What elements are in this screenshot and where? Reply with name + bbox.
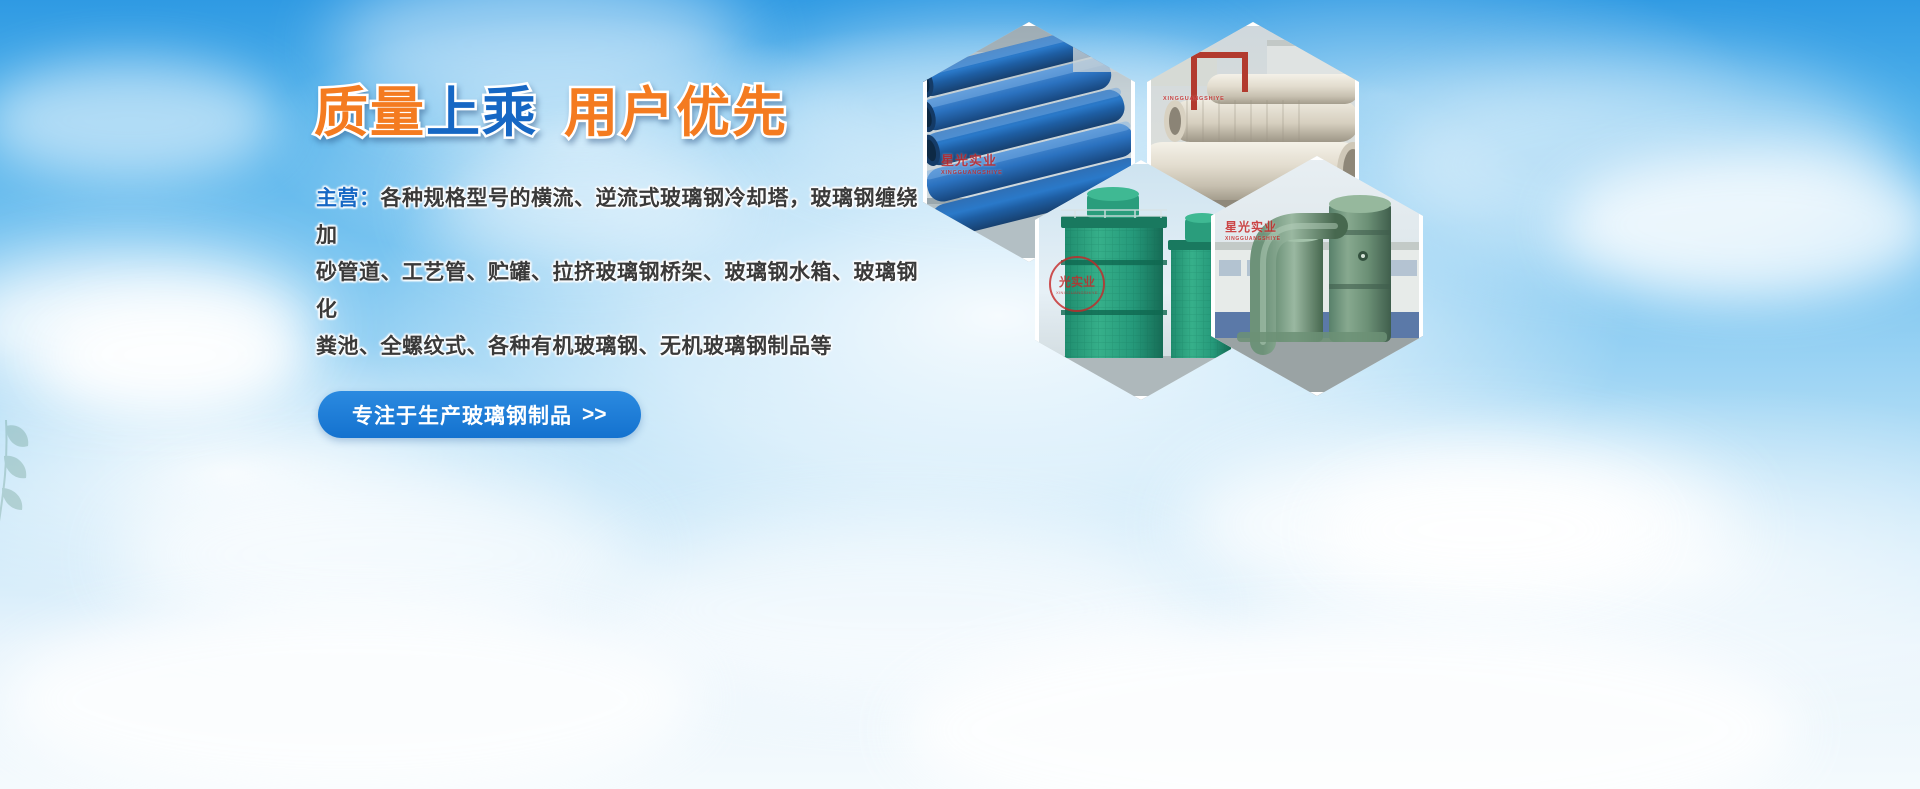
watermark-text: 星光实业 — [941, 153, 997, 168]
photo-watermark: 星光实业 XINGGUANGSHIYE — [1225, 218, 1281, 242]
promo-banner: 质量上乘用户优先 主营：各种规格型号的横流、逆流式玻璃钢冷却塔，玻璃钢缠绕加 砂… — [0, 0, 1920, 789]
cloud-decoration — [1560, 150, 1920, 300]
description-line-2: 砂管道、工艺管、贮罐、拉挤玻璃钢桥架、玻璃钢水箱、玻璃钢化 — [316, 254, 930, 328]
cloud-decoration — [0, 60, 280, 180]
photo-watermark: 星光实业 XINGGUANGSHIYE — [941, 150, 1003, 176]
description-line-1: 主营：各种规格型号的横流、逆流式玻璃钢冷却塔，玻璃钢缠绕加 — [316, 180, 930, 254]
banner-copy: 质量上乘用户优先 主营：各种规格型号的横流、逆流式玻璃钢冷却塔，玻璃钢缠绕加 砂… — [310, 86, 930, 438]
watermark-pinyin: XINGGUANGSHIYE — [941, 170, 1003, 176]
watermark-text: 光实业 — [1059, 273, 1095, 290]
headline-part-3: 用户优先 — [564, 81, 788, 144]
photo-watermark: 光实业 XINGGUANGSHIYE — [1049, 256, 1105, 312]
description-lead: 主营： — [316, 187, 381, 210]
headline-part-2: 上乘 — [426, 81, 538, 144]
cta-arrow-icon: >> — [582, 403, 607, 427]
headline: 质量上乘用户优先 — [314, 86, 930, 140]
cloud-decoration — [40, 300, 300, 410]
watermark-pinyin: XINGGUANGSHIYE — [1225, 236, 1281, 242]
watermark-text: 星光实业 — [1225, 220, 1277, 234]
watermark-pinyin: XINGGUANGSHIYE — [1163, 96, 1225, 102]
cloud-decoration — [0, 600, 700, 789]
watermark-pinyin: XINGGUANGSHIYE — [1056, 290, 1098, 295]
product-photo-cluster: 星光实业 XINGGUANGSHIYE — [915, 8, 1435, 408]
headline-part-1: 质量 — [314, 81, 426, 144]
leaf-silhouette-decoration — [0, 400, 64, 530]
description-line-1-rest: 各种规格型号的横流、逆流式玻璃钢冷却塔，玻璃钢缠绕加 — [316, 187, 918, 247]
cta-label: 专注于生产玻璃钢制品 — [352, 400, 572, 430]
photo-watermark: XINGGUANGSHIYE — [1163, 96, 1225, 102]
description-line-3: 粪池、全螺纹式、各种有机玻璃钢、无机玻璃钢制品等 — [316, 328, 930, 365]
cloud-decoration — [1320, 470, 1650, 590]
description-block: 主营：各种规格型号的横流、逆流式玻璃钢冷却塔，玻璃钢缠绕加 砂管道、工艺管、贮罐… — [316, 180, 930, 365]
cta-button[interactable]: 专注于生产玻璃钢制品 >> — [318, 391, 641, 438]
